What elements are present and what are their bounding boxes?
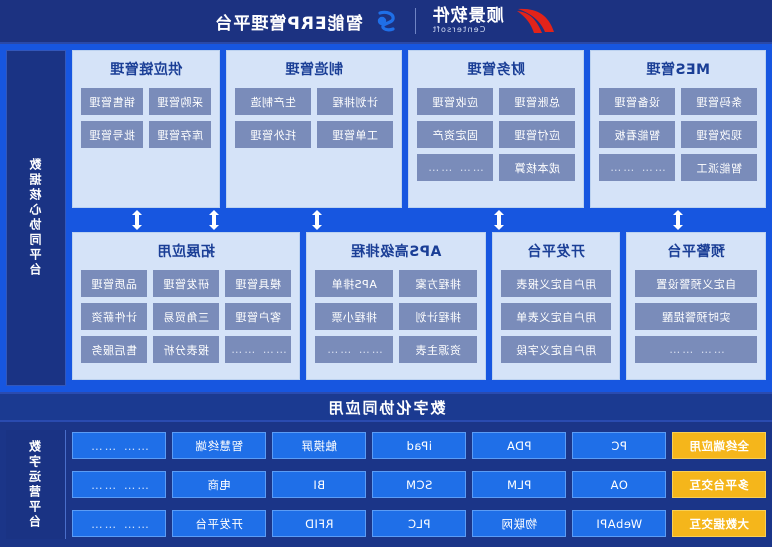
footer-row-terminals: 全终端应用 PC PDA iPad 触摸屏 智慧终端 …… …… <box>72 432 766 459</box>
footer-button[interactable]: PLM <box>472 471 566 498</box>
chip-item[interactable]: 用户自定义表单 <box>501 303 611 330</box>
chip-item[interactable]: 用户自定义报表 <box>501 270 611 297</box>
rail-label: 数据核心协同平台 <box>27 158 45 278</box>
panel-supply-chain[interactable]: 供应链管理 采购管理 销售管理 库存管理 批号管理 <box>72 50 220 208</box>
footer-button[interactable]: 开发平台 <box>172 510 266 537</box>
chip-item[interactable]: 托外管理 <box>235 121 311 148</box>
footer-button[interactable]: 智慧终端 <box>172 432 266 459</box>
panel-title: 拓展应用 <box>81 241 291 261</box>
chip-item[interactable]: 固定资产 <box>417 121 493 148</box>
logo-divider <box>415 8 416 34</box>
chip-item[interactable]: 计件薪资 <box>81 303 147 330</box>
double-arrow-icon <box>494 210 505 230</box>
footer-button[interactable]: 全终端应用 <box>672 432 766 459</box>
chip-item[interactable]: 采购管理 <box>149 88 211 115</box>
footer-button[interactable]: 电商 <box>172 471 266 498</box>
footer-button[interactable]: WebAPI <box>572 510 666 537</box>
footer-button[interactable]: PDA <box>472 432 566 459</box>
footer-button[interactable]: 触摸屏 <box>272 432 366 459</box>
footer-button[interactable]: 多平台交互 <box>672 471 766 498</box>
panel-finance[interactable]: 财务管理 总账管理 应收管理 应付管理 固定资产 成本核算 …… …… <box>408 50 584 208</box>
chip-item[interactable]: 售后服务 <box>81 336 147 363</box>
diagram-canvas: 顺景软件 Centersoft 智能ERP管理平台 MES管理 条码管理 <box>0 0 772 547</box>
company-logo-text: 顺景软件 Centersoft <box>432 8 504 34</box>
chip-item[interactable]: 库存管理 <box>149 121 211 148</box>
footer-button[interactable]: 大数据交互 <box>672 510 766 537</box>
panel-title: APS高级排程 <box>315 241 477 261</box>
panel-title: 制造管理 <box>235 59 393 79</box>
top-panel-row: MES管理 条码管理 设备管理 现改管理 智能看板 智能派工 …… …… 财务管… <box>72 50 766 208</box>
panel-aps-scheduling[interactable]: APS高级排程 排程方案 APS排单 排程计划 排程小票 资源主表 …… …… <box>306 232 486 380</box>
footer-button[interactable]: iPad <box>372 432 466 459</box>
chip-item[interactable]: 生产制造 <box>235 88 311 115</box>
chip-item[interactable]: 应付管理 <box>499 121 575 148</box>
chip-item[interactable]: APS排单 <box>315 270 393 297</box>
chip-item-more[interactable]: …… …… <box>599 154 675 181</box>
rail-label: 数字运营平台 <box>27 440 45 530</box>
app-header: 顺景软件 Centersoft 智能ERP管理平台 <box>0 0 772 44</box>
footer-button[interactable]: OA <box>572 471 666 498</box>
panel-alert-platform[interactable]: 预警平台 自定义预警设置 实时预警提醒 …… …… <box>626 232 766 380</box>
footer-button-more[interactable]: …… …… <box>72 432 166 459</box>
footer-button-more[interactable]: …… …… <box>72 471 166 498</box>
banner-label: 数字化协同应用 <box>327 397 446 418</box>
footer-row-bigdata: 大数据交互 WebAPI 物联网 PLC RFID 开发平台 …… …… <box>72 510 766 537</box>
footer-button[interactable]: RFID <box>272 510 366 537</box>
chip-item[interactable]: 销售管理 <box>81 88 143 115</box>
chip-item-more[interactable]: …… …… <box>417 154 493 181</box>
chip-item[interactable]: 三角贸易 <box>153 303 219 330</box>
chip-item[interactable]: 批号管理 <box>81 121 143 148</box>
panel-title: MES管理 <box>599 59 757 79</box>
panel-extended-apps[interactable]: 拓展应用 模具管理 研发管理 品质管理 客户管理 三角贸易 计件薪资 …… ……… <box>72 232 300 380</box>
chip-item[interactable]: 排程小票 <box>315 303 393 330</box>
rail-digital-operations-platform: 数字运营平台 <box>6 430 66 539</box>
chip-item[interactable]: 模具管理 <box>225 270 291 297</box>
chip-item[interactable]: 实时预警提醒 <box>635 303 757 330</box>
chip-item[interactable]: 设备管理 <box>599 88 675 115</box>
panel-dev-platform[interactable]: 开发平台 用户自定义报表 用户自定义表单 用户自定义字段 <box>492 232 620 380</box>
chip-item[interactable]: 智能看板 <box>599 121 675 148</box>
double-arrow-icon <box>312 210 323 230</box>
logo-chinese-name: 顺景软件 <box>432 8 504 26</box>
chip-item[interactable]: 成本核算 <box>499 154 575 181</box>
chip-item-more[interactable]: …… …… <box>225 336 291 363</box>
sy-brand-icon <box>373 8 399 34</box>
chip-item[interactable]: 总账管理 <box>499 88 575 115</box>
chip-item[interactable]: 工单管理 <box>317 121 393 148</box>
footer-button[interactable]: PLC <box>372 510 466 537</box>
footer-button[interactable]: SCM <box>372 471 466 498</box>
chip-item[interactable]: 用户自定义字段 <box>501 336 611 363</box>
chip-item[interactable]: 排程计划 <box>399 303 477 330</box>
arrow-slot <box>408 208 590 232</box>
panel-mes[interactable]: MES管理 条码管理 设备管理 现改管理 智能看板 智能派工 …… …… <box>590 50 766 208</box>
double-arrow-icon <box>673 210 684 230</box>
chip-item[interactable]: 研发管理 <box>153 270 219 297</box>
chip-item[interactable]: 自定义预警设置 <box>635 270 757 297</box>
company-logo-icon <box>514 6 558 36</box>
footer-row-platforms: 多平台交互 OA PLM SCM BI 电商 …… …… <box>72 471 766 498</box>
double-arrow-icon <box>132 210 143 230</box>
arrow-slot <box>72 208 202 232</box>
arrow-slot <box>590 208 766 232</box>
section-banner-digital-collab: 数字化协同应用 <box>0 392 772 422</box>
chip-item[interactable]: 报表分析 <box>153 336 219 363</box>
chip-item[interactable]: 资源主表 <box>399 336 477 363</box>
chip-item[interactable]: 智能派工 <box>681 154 757 181</box>
rail-data-core-platform: 数据核心协同平台 <box>6 50 66 386</box>
footer-button-more[interactable]: …… …… <box>72 510 166 537</box>
chip-item[interactable]: 现改管理 <box>681 121 757 148</box>
panel-title: 开发平台 <box>501 241 611 261</box>
panel-title: 预警平台 <box>635 241 757 261</box>
chip-item-more[interactable]: …… …… <box>635 336 757 363</box>
mid-panel-row: 预警平台 自定义预警设置 实时预警提醒 …… …… 开发平台 用户自定义报表 用… <box>72 232 766 380</box>
chip-item[interactable]: 排程方案 <box>399 270 477 297</box>
main-body: MES管理 条码管理 设备管理 现改管理 智能看板 智能派工 …… …… 财务管… <box>0 44 772 392</box>
arrow-slot <box>226 208 408 232</box>
chip-item[interactable]: 应收管理 <box>417 88 493 115</box>
double-arrow-icon <box>209 210 220 230</box>
chip-item[interactable]: 计划排程 <box>317 88 393 115</box>
footer-button[interactable]: 物联网 <box>472 510 566 537</box>
arrow-slot <box>202 208 226 232</box>
logo-english-name: Centersoft <box>432 26 504 34</box>
panel-title: 供应链管理 <box>81 59 211 79</box>
footer-button[interactable]: PC <box>572 432 666 459</box>
chip-item[interactable]: 品质管理 <box>81 270 147 297</box>
panel-manufacturing[interactable]: 制造管理 计划排程 生产制造 工单管理 托外管理 <box>226 50 402 208</box>
footer-area: 全终端应用 PC PDA iPad 触摸屏 智慧终端 …… …… 多平台交互 O… <box>0 422 772 547</box>
connector-arrow-row <box>72 208 766 232</box>
panel-title: 财务管理 <box>417 59 575 79</box>
chip-item[interactable]: 条码管理 <box>681 88 757 115</box>
chip-item[interactable]: 客户管理 <box>225 303 291 330</box>
chip-item-more[interactable]: …… …… <box>315 336 393 363</box>
footer-button[interactable]: BI <box>272 471 366 498</box>
page-title: 智能ERP管理平台 <box>214 9 362 34</box>
